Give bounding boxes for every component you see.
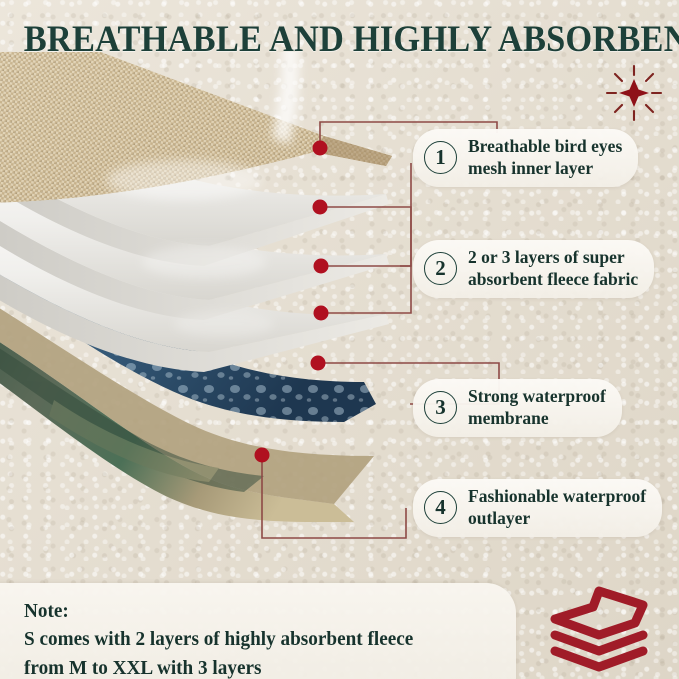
callout-4[interactable]: 4 Fashionable waterproof outlayer [413,479,662,537]
callout-2-number: 2 [424,252,457,285]
infographic-canvas: BREATHABLE AND HIGHLY ABSORBENT [0,0,679,679]
callout-1-number: 1 [424,141,457,174]
callout-3-label: Strong waterproof membrane [468,386,606,430]
callout-1-label: Breathable bird eyes mesh inner layer [468,136,622,180]
note-text: Note: S comes with 2 layers of highly ab… [24,597,413,679]
callout-4-number: 4 [424,491,457,524]
callout-2-label: 2 or 3 layers of super absorbent fleece … [468,247,638,291]
callout-3[interactable]: 3 Strong waterproof membrane [413,379,622,437]
fabric-layer-stack-illustration [0,52,394,562]
callout-1[interactable]: 1 Breathable bird eyes mesh inner layer [413,129,638,187]
callout-4-label: Fashionable waterproof outlayer [468,486,646,530]
stacked-layers-icon [543,583,655,673]
callout-2[interactable]: 2 2 or 3 layers of super absorbent fleec… [413,240,654,298]
note-panel: Note: S comes with 2 layers of highly ab… [0,583,516,679]
callout-3-number: 3 [424,391,457,424]
sparkle-star-icon [604,63,664,123]
